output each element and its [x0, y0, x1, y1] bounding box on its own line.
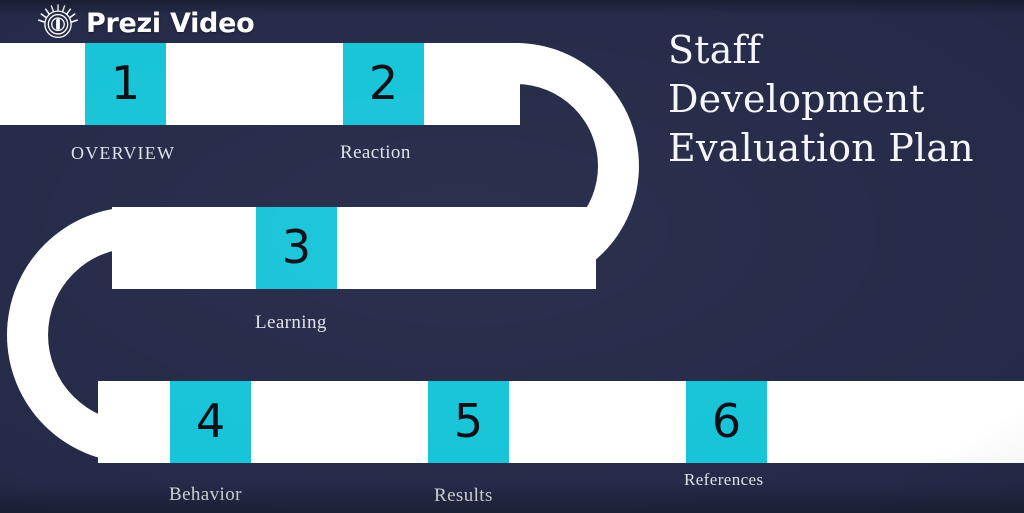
title-line-1: Staff: [668, 26, 974, 75]
segment-r3-7-references[interactable]: 6: [686, 381, 767, 463]
segment-r3-3[interactable]: [342, 381, 423, 463]
segment-r2-2[interactable]: [342, 207, 423, 289]
segment-r3-5[interactable]: [514, 381, 595, 463]
segment-r2-0[interactable]: [515, 207, 596, 289]
title-line-2: Development: [668, 75, 974, 124]
step-label-references: References: [684, 470, 764, 490]
segment-number: 4: [170, 381, 251, 463]
segment-number: 5: [428, 381, 509, 463]
segment-r3-6[interactable]: [600, 381, 681, 463]
segment-r3-9[interactable]: [858, 381, 939, 463]
step-label-behavior: Behavior: [169, 484, 242, 506]
prezi-video-logo: Prezi Video: [38, 2, 254, 44]
step-label-results: Results: [434, 485, 493, 507]
logo-wordmark: Prezi Video: [86, 10, 254, 37]
page-title: Staff Development Evaluation Plan: [668, 26, 974, 173]
presentation-slide: 1 2 3 4 5 6 OVERVIEW Reaction Learning B…: [0, 0, 1024, 513]
segment-r1-5[interactable]: [429, 43, 510, 125]
segment-r3-2[interactable]: [256, 381, 337, 463]
segment-r3-10[interactable]: [944, 381, 1024, 463]
segment-r1-2[interactable]: [171, 43, 252, 125]
step-label-learning: Learning: [255, 312, 327, 334]
segment-r2-3-learning[interactable]: 3: [256, 207, 337, 289]
segment-r3-1-behavior[interactable]: 4: [170, 381, 251, 463]
segment-r1-1-overview[interactable]: 1: [85, 43, 166, 125]
segment-r2-1[interactable]: [429, 207, 510, 289]
segment-r3-0[interactable]: [98, 381, 164, 463]
segment-number: 2: [343, 43, 424, 125]
prezi-fingerprint-icon: [38, 3, 78, 43]
segment-r3-4-results[interactable]: 5: [428, 381, 509, 463]
segment-r3-8[interactable]: [772, 381, 853, 463]
segment-r1-0[interactable]: [0, 43, 80, 125]
segment-number: 6: [686, 381, 767, 463]
title-line-3: Evaluation Plan: [668, 124, 974, 173]
segment-r1-3[interactable]: [257, 43, 338, 125]
step-label-reaction: Reaction: [340, 142, 411, 164]
segment-number: 1: [85, 43, 166, 125]
step-label-overview: OVERVIEW: [71, 143, 175, 164]
segment-r2-4[interactable]: [170, 207, 251, 289]
segment-r2-5[interactable]: [112, 207, 165, 289]
segment-r1-4-reaction[interactable]: 2: [343, 43, 424, 125]
segment-number: 3: [256, 207, 337, 289]
